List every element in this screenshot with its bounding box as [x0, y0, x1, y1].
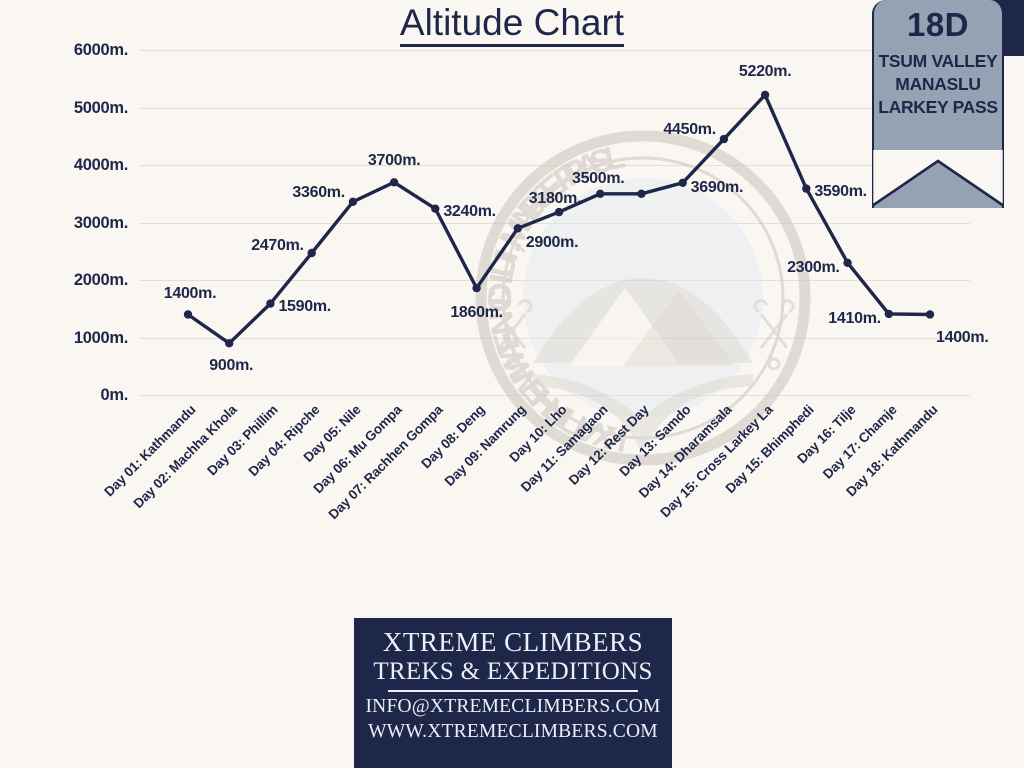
footer-email: INFO@XTREMECLIMBERS.COM: [354, 695, 672, 719]
data-point-label: 2470m.: [251, 237, 303, 255]
data-point-label: 1590m.: [278, 298, 330, 316]
data-point: [390, 178, 398, 186]
page-title-text: Altitude Chart: [400, 2, 624, 47]
data-point-label: 3240m.: [443, 203, 495, 221]
data-point-label: 1410m.: [828, 310, 880, 328]
x-axis-tick-label: Day 17: Chamje: [820, 402, 900, 482]
y-axis-tick-label: 4000m.: [2, 156, 128, 175]
data-point: [679, 179, 687, 187]
y-axis-tick-label: 5000m.: [2, 99, 128, 118]
y-axis-tick-label: 0m.: [2, 386, 128, 405]
y-axis-tick-label: 1000m.: [2, 329, 128, 348]
altitude-chart-poster: Altitude Chart 6000m.5000m.4000m.3000m.2…: [0, 0, 1024, 768]
data-point-label: 900m.: [209, 357, 253, 375]
data-point: [926, 310, 934, 318]
data-point-label: 2900m.: [526, 234, 578, 252]
data-point: [472, 284, 480, 292]
y-axis-tick-label: 3000m.: [2, 214, 128, 233]
data-point: [720, 135, 728, 143]
footer-divider: [388, 690, 638, 692]
data-point: [555, 208, 563, 216]
data-point-label: 1860m.: [450, 304, 502, 322]
footer-subtitle: TREKS & EXPEDITIONS: [354, 658, 672, 687]
data-point: [266, 299, 274, 307]
footer-company: XTREME CLIMBERS: [354, 627, 672, 658]
badge-line-2: MANASLU: [874, 73, 1002, 96]
gridline: [140, 395, 970, 396]
data-point-label: 1400m.: [164, 285, 216, 303]
y-axis-tick-label: 6000m.: [2, 41, 128, 60]
data-point-label: 3690m.: [691, 179, 743, 197]
data-point: [761, 91, 769, 99]
data-point-label: 3500m.: [572, 170, 624, 188]
data-point: [349, 198, 357, 206]
data-point-label: 5220m.: [739, 63, 791, 81]
data-point: [184, 310, 192, 318]
company-footer: XTREME CLIMBERS TREKS & EXPEDITIONS INFO…: [354, 618, 672, 768]
data-point-label: 1400m.: [936, 329, 988, 347]
altitude-series: [140, 50, 970, 395]
data-point: [308, 249, 316, 257]
y-axis-tick-label: 2000m.: [2, 271, 128, 290]
data-point: [885, 310, 893, 318]
data-point: [596, 190, 604, 198]
badge-duration: 18D: [874, 0, 1002, 41]
data-point-label: 3590m.: [814, 183, 866, 201]
data-point: [225, 339, 233, 347]
chart-plot-area: 6000m.5000m.4000m.3000m.2000m.1000m.0m.: [140, 50, 970, 395]
data-point-label: 3360m.: [292, 184, 344, 202]
data-point: [843, 259, 851, 267]
data-point-label: 2300m.: [787, 259, 839, 277]
data-point: [802, 184, 810, 192]
data-point-label: 3180m.: [529, 190, 581, 208]
data-point: [431, 205, 439, 213]
page-title: Altitude Chart: [0, 2, 1024, 44]
data-point-label: 3700m.: [368, 152, 420, 170]
footer-website: WWW.XTREMECLIMBERS.COM: [354, 720, 672, 744]
data-point: [514, 224, 522, 232]
badge-line-3: LARKEY PASS: [874, 96, 1002, 119]
trip-badge: 18D TSUM VALLEY MANASLU LARKEY PASS: [872, 0, 1004, 208]
badge-line-1: TSUM VALLEY: [874, 50, 1002, 73]
data-point: [637, 190, 645, 198]
data-point-label: 4450m.: [663, 121, 715, 139]
